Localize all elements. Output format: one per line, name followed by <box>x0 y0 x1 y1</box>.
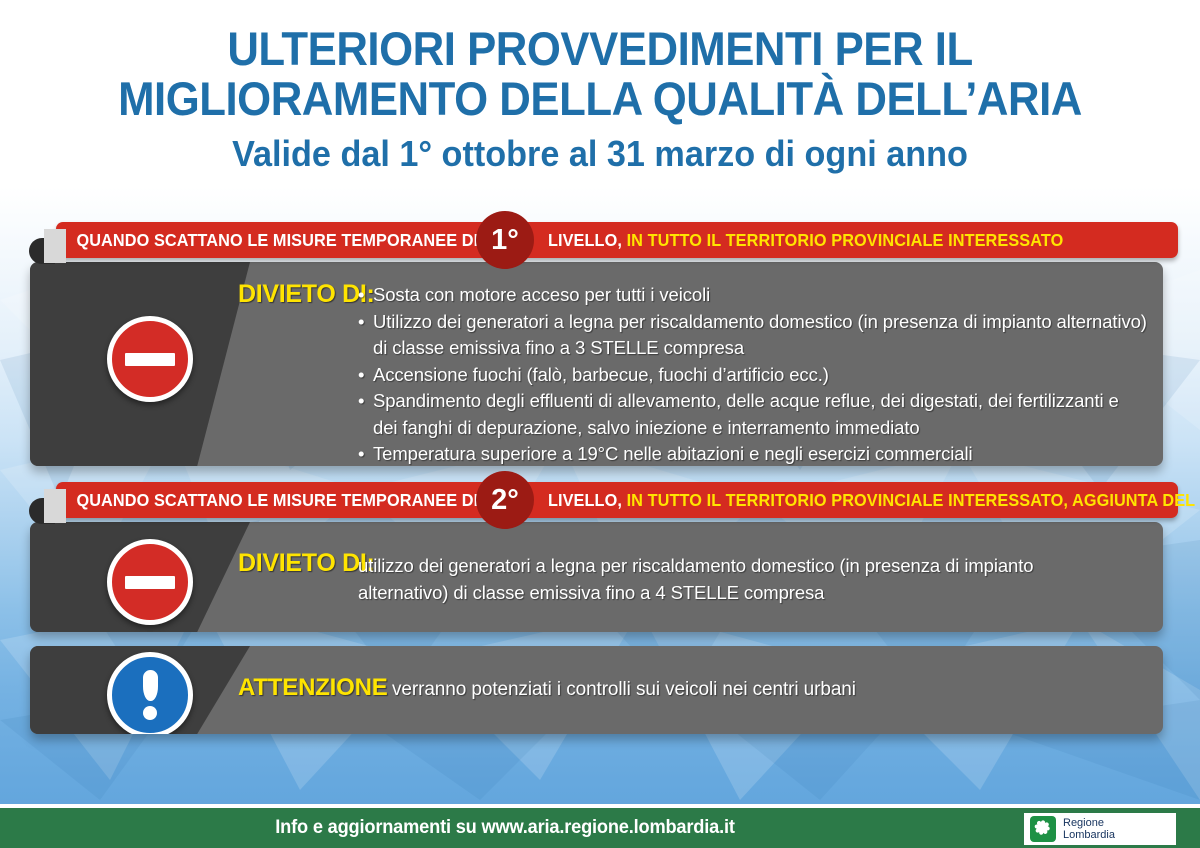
banner-middle: LIVELLO, <box>548 230 622 250</box>
exclamation-stem <box>143 670 158 701</box>
list-item: Spandimento degli effluenti di allevamen… <box>358 388 1148 441</box>
panel-attenzione: ATTENZIONE verranno potenziati i control… <box>30 646 1163 734</box>
panel-level-2: DIVIETO DI: utilizzo dei generatori a le… <box>30 522 1163 632</box>
title-subtitle: Valide dal 1° ottobre al 31 marzo di ogn… <box>30 132 1170 176</box>
exclamation-icon <box>107 652 193 734</box>
infographic-poster: ULTERIORI PROVVEDIMENTI PER IL MIGLIORAM… <box>0 0 1200 848</box>
footer-info-text[interactable]: Info e aggiornamenti su www.aria.regione… <box>20 808 990 848</box>
regione-lombardia-logo: Regione Lombardia <box>1024 813 1176 845</box>
banner-level-1-text: QUANDO SCATTANO LE MISURE TEMPORANEE DI … <box>56 222 1099 258</box>
banner-highlight: IN TUTTO IL TERRITORIO PROVINCIALE INTER… <box>627 490 1196 510</box>
list-item: Utilizzo dei generatori a legna per risc… <box>358 309 1148 362</box>
title-line-2: MIGLIORAMENTO DELLA QUALITÀ DELL’ARIA <box>42 74 1158 124</box>
divieto-label-1: DIVIETO DI: <box>238 280 375 309</box>
list-item: Sosta con motore acceso per tutti i veic… <box>358 282 1148 309</box>
rosa-camuna-glyph <box>1030 816 1056 842</box>
level-badge-2: 2° <box>476 471 534 529</box>
ribbon-tab <box>44 229 66 263</box>
attenzione-text: verranno potenziati i controlli sui veic… <box>392 679 856 700</box>
prohibition-list-level-1: Sosta con motore acceso per tutti i veic… <box>358 282 1148 466</box>
no-entry-icon <box>107 316 193 402</box>
banner-middle: LIVELLO, <box>548 490 622 510</box>
prohibition-paragraph-level-2: utilizzo dei generatori a legna per risc… <box>358 552 1058 606</box>
rosa-camuna-icon <box>1030 816 1056 842</box>
list-item: Accensione fuochi (falò, barbecue, fuoch… <box>358 362 1148 389</box>
poster-title-block: ULTERIORI PROVVEDIMENTI PER IL MIGLIORAM… <box>0 24 1200 176</box>
ribbon-tab <box>44 489 66 523</box>
exclamation-dot <box>143 706 157 720</box>
list-item: Temperatura superiore a 19°C nelle abita… <box>358 441 1148 466</box>
banner-highlight: IN TUTTO IL TERRITORIO PROVINCIALE INTER… <box>627 230 1064 250</box>
banner-level-2: QUANDO SCATTANO LE MISURE TEMPORANEE DI … <box>56 482 1178 518</box>
attenzione-row: ATTENZIONE verranno potenziati i control… <box>238 674 856 702</box>
no-entry-icon <box>107 539 193 625</box>
logo-line-2: Lombardia <box>1063 829 1115 841</box>
attenzione-label: ATTENZIONE <box>238 674 388 701</box>
divieto-label-2: DIVIETO DI: <box>238 549 375 578</box>
banner-prefix: QUANDO SCATTANO LE MISURE TEMPORANEE DI <box>76 490 478 510</box>
level-badge-1: 1° <box>476 211 534 269</box>
banner-level-1: QUANDO SCATTANO LE MISURE TEMPORANEE DI … <box>56 222 1178 258</box>
logo-wordmark: Regione Lombardia <box>1063 817 1115 841</box>
footer-bar: Info e aggiornamenti su www.aria.regione… <box>0 808 1200 848</box>
banner-prefix: QUANDO SCATTANO LE MISURE TEMPORANEE DI <box>76 230 478 250</box>
no-entry-bar <box>125 353 175 366</box>
logo-line-1: Regione <box>1063 817 1115 829</box>
no-entry-bar <box>125 576 175 589</box>
banner-level-2-text: QUANDO SCATTANO LE MISURE TEMPORANEE DI … <box>56 482 1099 518</box>
panel-level-1: DIVIETO DI: Sosta con motore acceso per … <box>30 262 1163 466</box>
title-line-1: ULTERIORI PROVVEDIMENTI PER IL <box>42 24 1158 74</box>
